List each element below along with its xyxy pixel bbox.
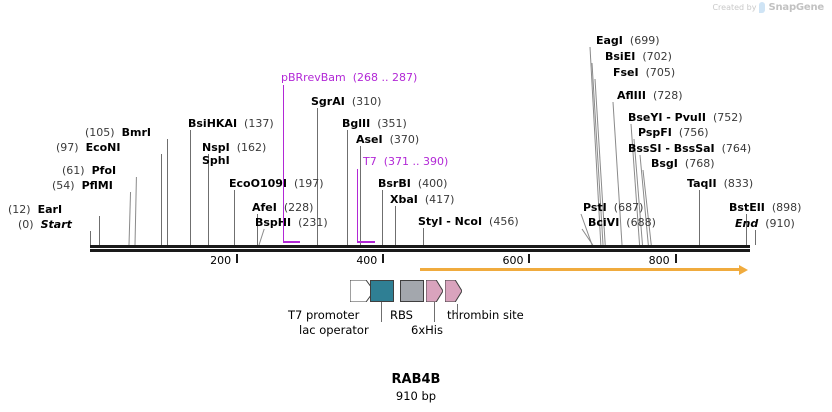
enzyme-position: (898) [772, 201, 802, 214]
ruler-label: 400 [356, 254, 377, 267]
enzyme-label: NspI (162) [202, 142, 266, 154]
primer-bracket [357, 232, 375, 243]
enzyme-label: BsiEI (702) [605, 51, 672, 63]
enzyme-label: XbaI (417) [390, 194, 454, 206]
orf-arrowhead [739, 265, 748, 275]
enzyme-name: StyI - NcoI [418, 215, 482, 228]
enzyme-name: BmrI [122, 126, 151, 139]
enzyme-name: AfeI [252, 201, 277, 214]
primer-name: T7 [363, 155, 377, 168]
leader-line [699, 190, 700, 245]
enzyme-name: End [735, 217, 758, 230]
sequence-backbone-bottom [90, 249, 750, 252]
enzyme-name: PspFI [638, 126, 672, 139]
enzyme-label: BstEII (898) [729, 202, 801, 214]
ruler-tick [675, 254, 677, 263]
enzyme-name: SgrAI [311, 95, 345, 108]
enzyme-position: (12) [8, 203, 31, 216]
primer-bracket [283, 232, 300, 243]
enzyme-position: (351) [377, 117, 407, 130]
enzyme-position: (162) [237, 141, 267, 154]
plasmid-map: Created by SnapGene (0) Start(12) EarI(5… [0, 0, 832, 412]
feature-legend-connector [381, 302, 382, 322]
watermark-prefix: Created by [712, 3, 756, 12]
enzyme-label: FseI (705) [613, 67, 675, 79]
enzyme-label: BglII (351) [342, 118, 407, 130]
enzyme-position: (137) [244, 117, 274, 130]
leader-line [258, 229, 265, 245]
enzyme-label: (61) PfoI [62, 165, 116, 177]
leader-line [167, 139, 168, 245]
primer-range: (371 .. 390) [384, 155, 449, 168]
enzyme-position: (54) [52, 179, 75, 192]
enzyme-label: BspHI (231) [255, 217, 328, 229]
ruler-label: 200 [210, 254, 231, 267]
enzyme-name: EcoO109I [229, 177, 287, 190]
enzyme-label: BsiHKAI (137) [188, 118, 274, 130]
leader-line [360, 146, 361, 245]
orf-arrow [420, 265, 748, 275]
enzyme-position: (752) [713, 111, 743, 124]
enzyme-position: (768) [685, 157, 715, 170]
enzyme-position: (231) [298, 216, 328, 229]
primer-name: pBRrevBam [281, 71, 346, 84]
enzyme-name: BsiEI [605, 50, 635, 63]
leader-line [423, 228, 424, 245]
enzyme-label: (97) EcoNI [56, 142, 120, 154]
leader-line [90, 231, 91, 245]
enzyme-name: AflIII [617, 89, 646, 102]
leader-line [642, 170, 652, 245]
snapgene-logo-icon [759, 2, 765, 13]
enzyme-name: PstI [583, 201, 607, 214]
enzyme-position: (705) [646, 66, 676, 79]
enzyme-position: (688) [626, 216, 656, 229]
leader-line [208, 167, 209, 245]
primer-label: T7 (371 .. 390) [363, 156, 448, 168]
enzyme-position: (310) [352, 95, 382, 108]
page-title: RAB4B [0, 372, 832, 387]
snapgene-watermark: Created by SnapGene [712, 2, 824, 13]
leader-line [581, 229, 594, 245]
enzyme-label: AflIII (728) [617, 90, 683, 102]
enzyme-label: BciVI (688) [588, 217, 656, 229]
feature-legend-connector [434, 302, 435, 322]
enzyme-name: BglII [342, 117, 370, 130]
enzyme-name: XbaI [390, 193, 418, 206]
feature-legend-label: lac operator [299, 323, 369, 337]
leader-line [161, 154, 162, 245]
enzyme-position: (228) [284, 201, 314, 214]
enzyme-position: (728) [653, 89, 683, 102]
enzyme-label: StyI - NcoI (456) [418, 216, 519, 228]
enzyme-label: (54) PflMI [52, 180, 113, 192]
feature-glyph-box-teal[interactable] [370, 280, 394, 302]
enzyme-label: EagI (699) [596, 35, 660, 47]
enzyme-name: PflMI [82, 179, 113, 192]
enzyme-name: BsgI [651, 157, 678, 170]
leader-line [755, 230, 756, 245]
enzyme-position: (910) [765, 217, 795, 230]
enzyme-label: (105) BmrI [85, 127, 151, 139]
feature-glyph-arrow-right-pink[interactable] [445, 280, 462, 302]
enzyme-name: EagI [596, 34, 623, 47]
leader-line [99, 216, 100, 245]
enzyme-label: AseI (370) [356, 134, 419, 146]
leader-line [190, 130, 191, 245]
enzyme-label: BsgI (768) [651, 158, 715, 170]
feature-legend-label: RBS [390, 308, 413, 322]
enzyme-name: EarI [38, 203, 62, 216]
enzyme-name: BsrBI [378, 177, 411, 190]
plasmid-length: 910 bp [0, 389, 832, 403]
leader-line [395, 206, 396, 245]
enzyme-position: (97) [56, 141, 79, 154]
enzyme-position: (400) [418, 177, 448, 190]
enzyme-label: BseYI - PvuII (752) [628, 112, 743, 124]
enzyme-name: BciVI [588, 216, 619, 229]
feature-legend-label: 6xHis [411, 323, 443, 337]
enzyme-position: (0) [18, 218, 34, 231]
enzyme-name: AseI [356, 133, 383, 146]
leader-line [128, 192, 132, 245]
leader-line [347, 130, 348, 245]
enzyme-name: PfoI [92, 164, 117, 177]
enzyme-position: (687) [614, 201, 644, 214]
enzyme-label: EcoO109I (197) [229, 178, 324, 190]
enzyme-position: (756) [679, 126, 709, 139]
enzyme-label: PstI (687) [583, 202, 643, 214]
enzyme-label: (12) EarI [8, 204, 62, 216]
watermark-brand: SnapGene [768, 2, 824, 13]
leader-line [382, 190, 383, 245]
orf-shaft [420, 268, 739, 271]
enzyme-name: EcoNI [86, 141, 121, 154]
enzyme-name: Start [41, 218, 72, 231]
enzyme-position: (105) [85, 126, 115, 139]
enzyme-name: SphI [202, 154, 230, 167]
enzyme-name: FseI [613, 66, 639, 79]
enzyme-position: (456) [489, 215, 519, 228]
feature-legend-connector [457, 304, 458, 315]
enzyme-name: BssSI - BssSaI [628, 142, 715, 155]
enzyme-name: TaqII [687, 177, 717, 190]
feature-glyph-box-gray[interactable] [400, 280, 424, 302]
enzyme-position: (699) [630, 34, 660, 47]
enzyme-position: (417) [425, 193, 455, 206]
enzyme-name: BspHI [255, 216, 291, 229]
enzyme-label: PspFI (756) [638, 127, 709, 139]
enzyme-label: SphI [202, 155, 237, 167]
ruler-tick [236, 254, 238, 263]
feature-legend-label: T7 promoter [288, 308, 359, 322]
primer-label: pBRrevBam (268 .. 287) [281, 72, 417, 84]
enzyme-position: (764) [722, 142, 752, 155]
enzyme-label: (0) Start [18, 219, 72, 231]
feature-legend-label: thrombin site [447, 308, 524, 322]
primer-range: (268 .. 287) [353, 71, 418, 84]
enzyme-name: BseYI - PvuII [628, 111, 706, 124]
leader-line [134, 177, 137, 245]
enzyme-label: End (910) [735, 218, 795, 230]
enzyme-position: (833) [724, 177, 754, 190]
enzyme-position: (702) [642, 50, 672, 63]
enzyme-name: BsiHKAI [188, 117, 237, 130]
enzyme-label: SgrAI (310) [311, 96, 381, 108]
ruler-tick [528, 254, 530, 263]
enzyme-position: (61) [62, 164, 85, 177]
enzyme-label: BsrBI (400) [378, 178, 447, 190]
enzyme-label: TaqII (833) [687, 178, 753, 190]
enzyme-name: NspI [202, 141, 230, 154]
leader-line [234, 190, 235, 245]
feature-glyph-arrow-right-pink[interactable] [426, 280, 443, 302]
enzyme-position: (370) [390, 133, 420, 146]
enzyme-position: (197) [294, 177, 324, 190]
enzyme-label: BssSI - BssSaI (764) [628, 143, 751, 155]
ruler-tick [382, 254, 384, 263]
enzyme-name: BstEII [729, 201, 765, 214]
primer-leader-line [283, 85, 284, 243]
